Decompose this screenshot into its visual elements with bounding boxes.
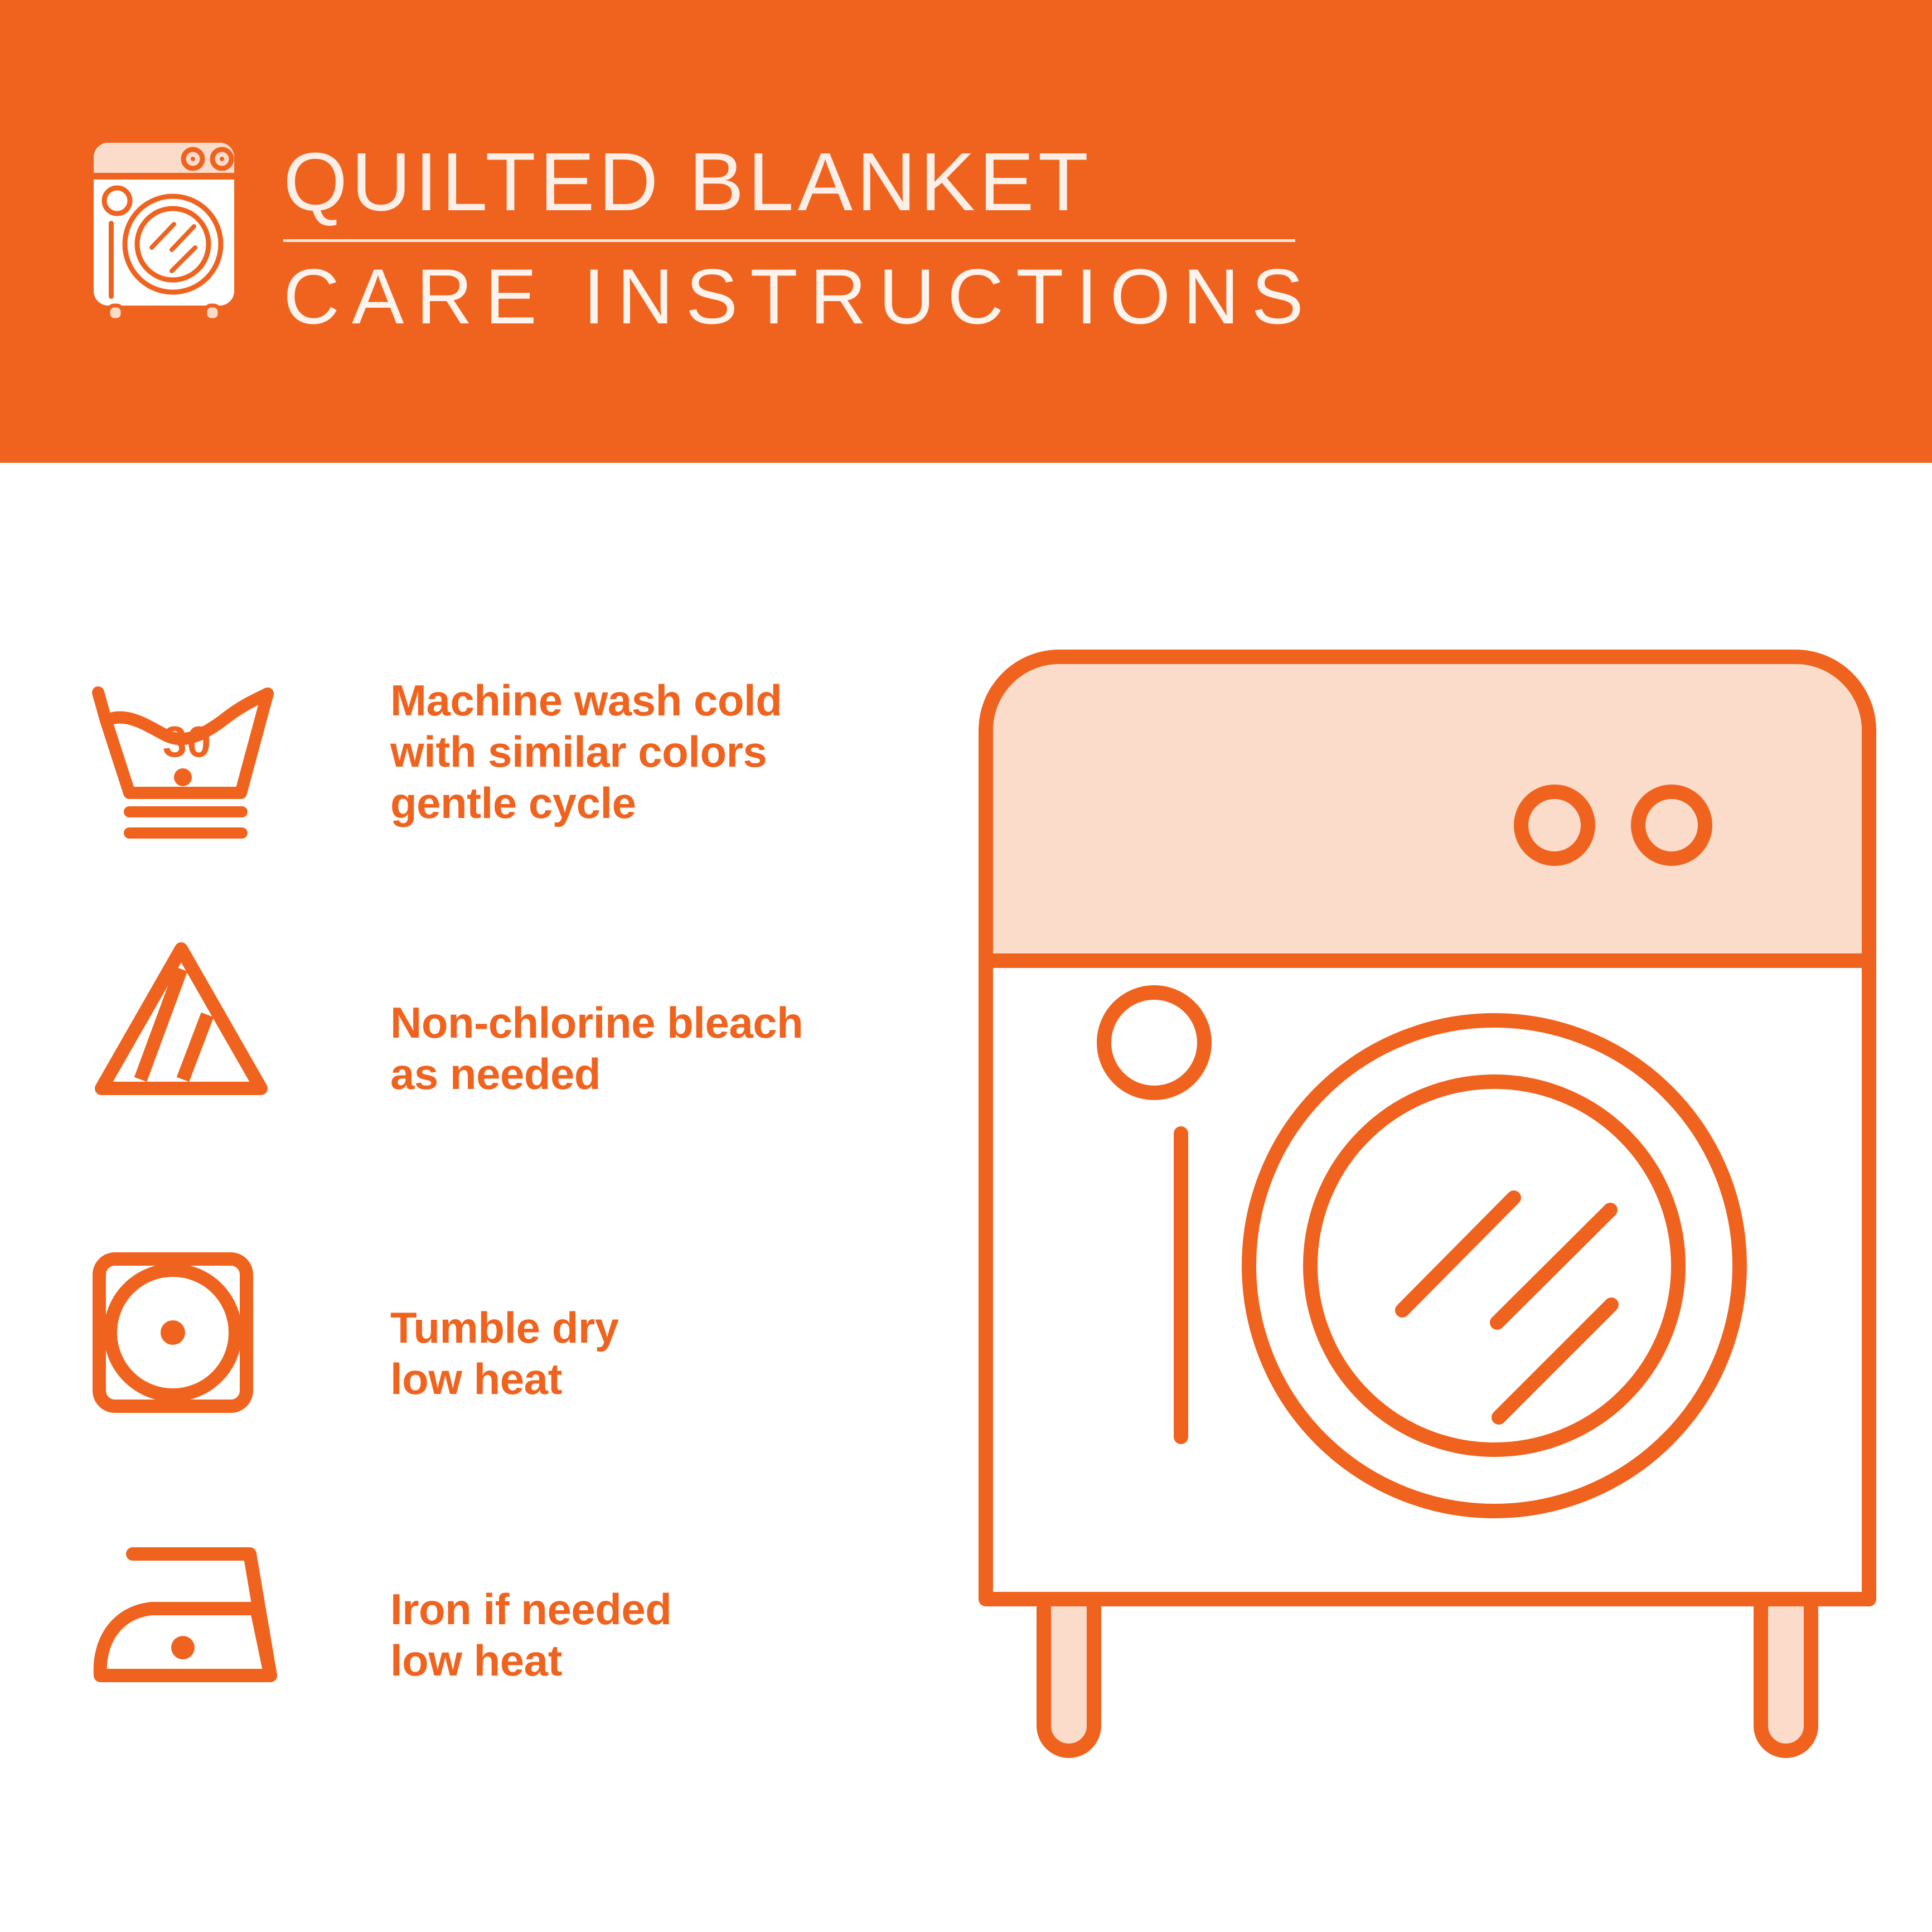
care-instructions-poster: QUILTED BLANKET CARE INSTRUCTIONS 30 Mac… <box>0 0 1932 1932</box>
care-instruction-text: Machine wash cold with similar colors ge… <box>390 675 782 829</box>
tumble-dry-low-heat-icon <box>89 1249 256 1419</box>
care-row: Tumble dry low heat <box>0 1243 948 1522</box>
non-chlorine-bleach-triangle-icon <box>89 937 273 1107</box>
care-row: 30 Machine wash cold with similar colors… <box>0 675 948 937</box>
header-band: QUILTED BLANKET CARE INSTRUCTIONS <box>0 0 1932 463</box>
iron-low-heat-icon <box>89 1542 279 1695</box>
title-divider <box>283 239 1295 242</box>
care-instruction-text: Tumble dry low heat <box>390 1302 619 1405</box>
care-instruction-text: Iron if needed low heat <box>390 1584 671 1686</box>
page-title: QUILTED BLANKET <box>283 137 1304 228</box>
care-instruction-text: Non-chlorine bleach as needed <box>390 997 803 1100</box>
wash-tub-30-gentle-icon: 30 <box>89 681 284 846</box>
large-washing-machine-illustration <box>970 641 1885 1829</box>
header-title-block: QUILTED BLANKET CARE INSTRUCTIONS <box>283 137 1304 339</box>
care-row: Non-chlorine bleach as needed <box>0 937 948 1227</box>
page-subtitle: CARE INSTRUCTIONS <box>283 254 1304 339</box>
care-row: Iron if needed low heat <box>0 1536 948 1793</box>
washing-machine-icon <box>89 138 239 322</box>
wash-temperature-label: 30 <box>163 717 211 766</box>
